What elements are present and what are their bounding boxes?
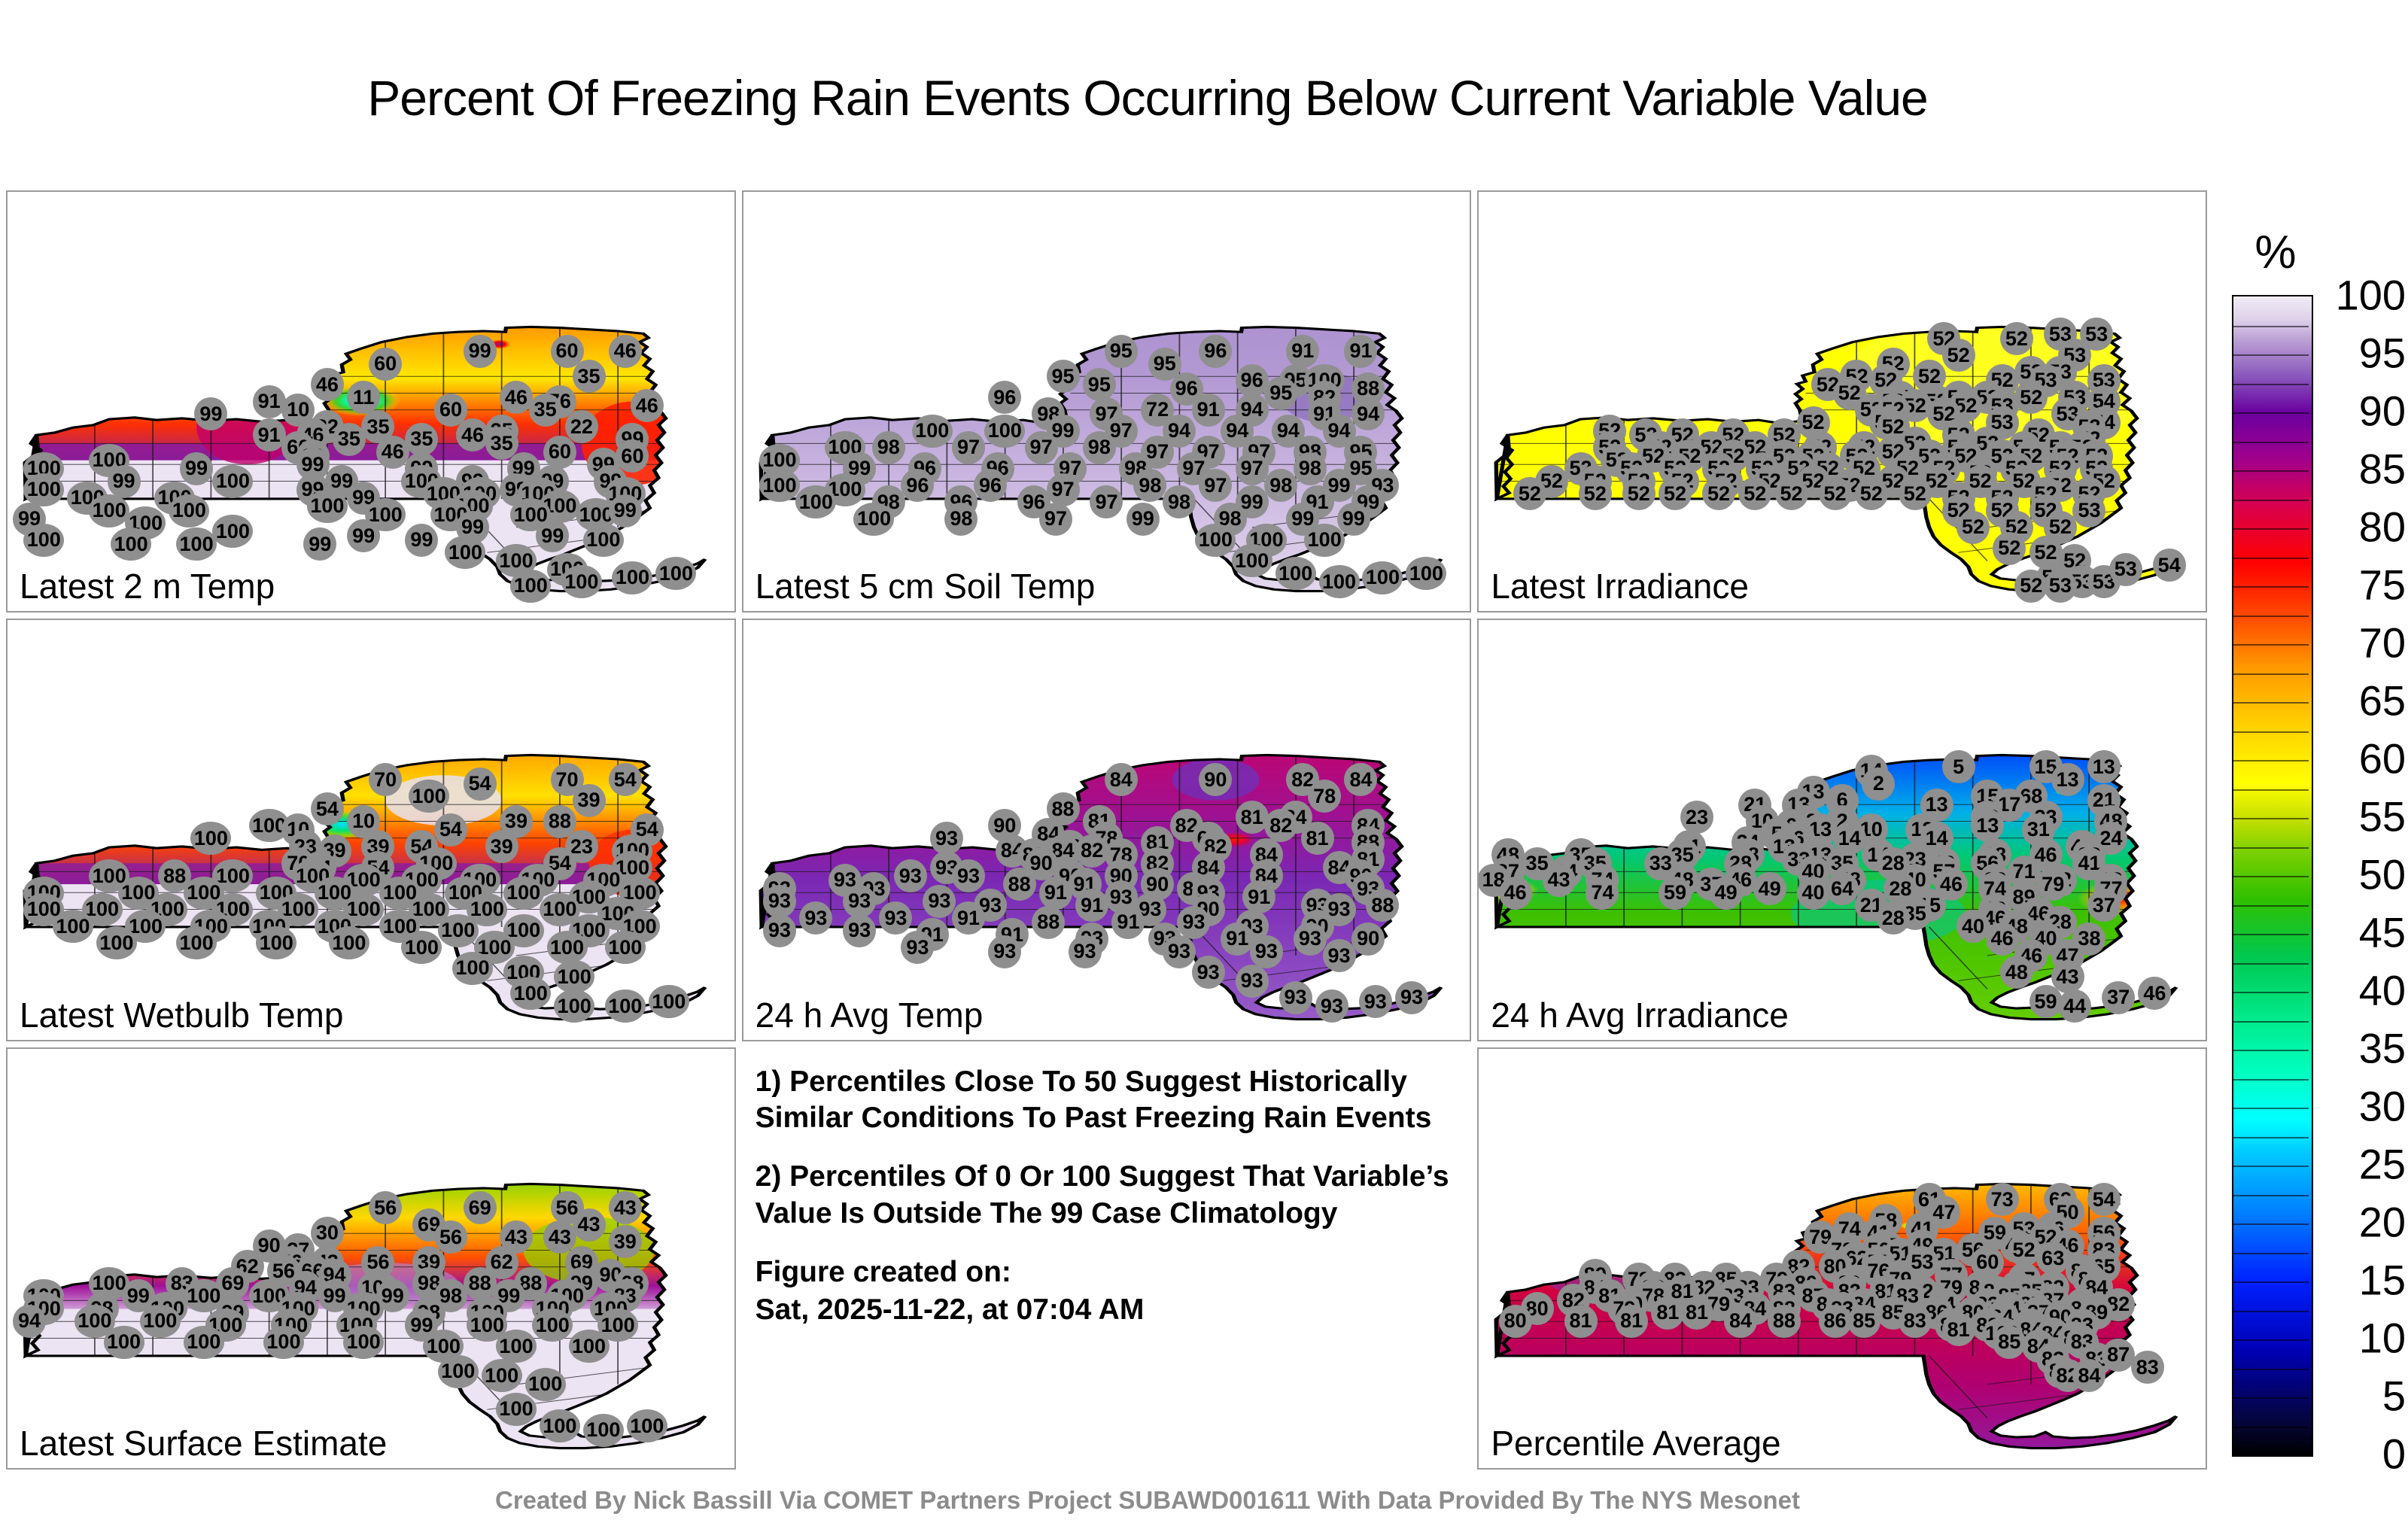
- panel-latest-2m-temp[interactable]: 6099604635469199101146763546602246359135…: [6, 190, 736, 612]
- station-marker: 100: [605, 989, 646, 1023]
- notes-block: 1) Percentiles Close To 50 Suggest Histo…: [742, 1047, 1472, 1336]
- colorbar-tick: [2233, 963, 2309, 965]
- station-marker: 100: [343, 1326, 384, 1359]
- station-marker: 100: [23, 473, 64, 506]
- station-marker: 97: [952, 431, 985, 464]
- station-plot-latest-2m-temp: 6099604635469199101146763546602246359135…: [8, 192, 734, 611]
- station-marker: 99: [609, 494, 642, 527]
- colorbar-tick: [2233, 673, 2309, 675]
- station-marker: 73: [1986, 1183, 2019, 1216]
- colorbar-tick: [2233, 905, 2309, 907]
- panel-notes: 1) Percentiles Close To 50 Suggest Histo…: [742, 1047, 1472, 1470]
- colorbar-units-label: %: [2230, 226, 2321, 279]
- station-marker: 97: [1199, 469, 1232, 502]
- colorbar-tick-label: 45: [2359, 908, 2406, 957]
- station-marker: 100: [452, 952, 493, 985]
- colorbar-tick-label: 95: [2359, 329, 2406, 378]
- station-marker: 37: [2102, 981, 2135, 1014]
- station-marker: 93: [923, 885, 956, 918]
- station-marker: 100: [554, 960, 594, 993]
- station-marker: 91: [1111, 906, 1145, 939]
- colorbar: % 10095908580757065605550454035302520151…: [2221, 226, 2408, 1482]
- station-marker: 100: [540, 1409, 580, 1442]
- station-marker: 100: [1304, 524, 1345, 557]
- station-marker: 85: [1847, 1305, 1880, 1338]
- station-marker: 81: [1301, 822, 1334, 855]
- panel-label-latest-surface-estimate: Latest Surface Estimate: [20, 1423, 387, 1464]
- station-marker: 100: [169, 494, 209, 527]
- station-marker: 46: [456, 418, 489, 451]
- station-marker: 91: [253, 385, 286, 418]
- station-marker: 100: [569, 1330, 610, 1363]
- station-marker: 100: [263, 1326, 304, 1359]
- station-marker: 93: [1294, 923, 1327, 956]
- station-marker: 88: [1768, 1305, 1801, 1338]
- station-marker: 100: [583, 1414, 624, 1447]
- panel-label-latest-wetbulb-temp: Latest Wetbulb Temp: [20, 995, 343, 1035]
- panel-latest-wetbulb-temp[interactable]: 7054705410039541001001010398854542339395…: [6, 619, 736, 1041]
- station-marker: 100: [1232, 544, 1272, 577]
- colorbar-tick: [2233, 1281, 2309, 1283]
- station-marker: 100: [401, 931, 442, 964]
- panel-label-latest-5cm-soil-temp: Latest 5 cm Soil Temp: [756, 566, 1096, 606]
- footer-credit: Created By Nick Bassill Via COMET Partne…: [0, 1486, 2295, 1515]
- station-marker: 93: [843, 885, 876, 918]
- colorbar-tick: [2233, 702, 2309, 704]
- station-marker: 35: [405, 423, 438, 456]
- colorbar-tick-label: 65: [2359, 676, 2406, 725]
- station-marker: 81: [1615, 1305, 1648, 1338]
- station-marker: 74: [1586, 877, 1619, 910]
- station-marker: 100: [605, 931, 646, 964]
- colorbar-tick-label: 25: [2359, 1140, 2406, 1189]
- colorbar-gradient[interactable]: [2232, 295, 2313, 1457]
- map-latest-irradiance: 5252535352535252525353525353525252535252…: [1479, 192, 2206, 611]
- station-marker: 70: [369, 763, 402, 796]
- colorbar-tick: [2233, 760, 2309, 761]
- station-marker: 91: [1039, 877, 1072, 910]
- station-marker: 54: [2153, 549, 2186, 582]
- station-marker: 98: [872, 431, 905, 464]
- page-title: Percent Of Freezing Rain Events Occurrin…: [0, 69, 2295, 126]
- station-marker: 100: [445, 536, 485, 569]
- panel-label-24h-avg-irradiance: 24 h Avg Irradiance: [1491, 995, 1789, 1035]
- station-plot-latest-5cm-soil-temp: 9596919195959696951009596889582989772919…: [743, 192, 1470, 611]
- station-plot-latest-irradiance: 5252535352535252525353525353525252535252…: [1479, 192, 2206, 611]
- station-marker: 100: [547, 931, 588, 964]
- station-marker: 100: [532, 1309, 573, 1342]
- colorbar-tick: [2233, 558, 2309, 559]
- colorbar-tick-label: 70: [2359, 619, 2406, 667]
- colorbar-tick: [2233, 354, 2309, 356]
- panel-24h-avg-irradiance[interactable]: 1451513213132123136156817132110126212132…: [1477, 619, 2207, 1041]
- station-marker: 91: [1221, 923, 1254, 956]
- station-marker: 96: [1236, 364, 1269, 397]
- station-marker: 11: [347, 381, 380, 414]
- station-marker: 43: [1543, 864, 1576, 897]
- station-marker: 93: [879, 901, 912, 935]
- colorbar-tick-label: 90: [2359, 387, 2406, 436]
- station-marker: 54: [2087, 1183, 2121, 1216]
- station-marker: 83: [1899, 1305, 1932, 1338]
- station-marker: 13: [1971, 809, 2004, 842]
- map-latest-5cm-soil-temp: 9596919195959696951009596889582989772919…: [743, 192, 1470, 611]
- station-marker: 52: [2014, 381, 2048, 414]
- station-marker: 100: [482, 1359, 522, 1392]
- station-marker: 99: [405, 524, 438, 557]
- panel-24h-avg-temp[interactable]: 8490828478889081818482828493849084788165…: [742, 619, 1472, 1041]
- station-marker: 100: [104, 1326, 144, 1359]
- station-marker: 46: [609, 335, 642, 368]
- station-marker: 80: [1499, 1305, 1532, 1338]
- colorbar-tick: [2233, 1050, 2309, 1051]
- panel-latest-surface-estimate[interactable]: 5669564369433090275643433962564356396269…: [6, 1047, 736, 1470]
- panel-label-latest-irradiance: Latest Irradiance: [1491, 566, 1749, 606]
- station-marker: 69: [464, 1191, 497, 1224]
- station-marker: 97: [1047, 473, 1080, 506]
- station-marker: 94: [13, 1305, 46, 1338]
- station-marker: 96: [1199, 335, 1232, 368]
- station-marker: 46: [2138, 977, 2171, 1010]
- station-marker: 52: [1659, 477, 1692, 510]
- colorbar-tick: [2233, 586, 2309, 588]
- station-marker: 100: [1319, 565, 1360, 598]
- colorbar-tick: [2233, 1166, 2309, 1167]
- station-marker: 53: [2044, 570, 2077, 603]
- station-marker: 35: [529, 394, 562, 427]
- map-percentile-average: 6173625447505841747941537652565947494746…: [1479, 1049, 2206, 1468]
- colorbar-tick: [2233, 1223, 2309, 1225]
- station-marker: 88: [1003, 868, 1036, 901]
- station-marker: 93: [843, 914, 876, 947]
- station-marker: 100: [1406, 557, 1446, 590]
- colorbar-tick: [2233, 442, 2309, 443]
- station-marker: 99: [194, 397, 227, 430]
- station-marker: 93: [1177, 906, 1210, 939]
- station-marker: 23: [1680, 801, 1713, 834]
- station-marker: 100: [307, 490, 348, 523]
- colorbar-tick: [2233, 1021, 2309, 1023]
- station-marker: 54: [311, 792, 344, 825]
- station-marker: 46: [376, 436, 409, 469]
- station-marker: 52: [1956, 511, 1990, 544]
- station-marker: 98: [1294, 452, 1327, 485]
- station-marker: 91: [253, 418, 286, 451]
- station-marker: 88: [464, 1267, 497, 1300]
- map-latest-2m-temp: 6099604635469199101146763546602246359135…: [8, 192, 734, 611]
- station-marker: 52: [1993, 532, 2026, 565]
- station-marker: 82: [1264, 809, 1297, 842]
- station-marker: 100: [23, 524, 64, 557]
- station-marker: 81: [1942, 1313, 1975, 1346]
- station-marker: 95: [1264, 377, 1297, 410]
- colorbar-tick: [2233, 616, 2309, 617]
- colorbar-tick-label: 60: [2359, 734, 2406, 783]
- station-marker: 52: [1819, 477, 1852, 510]
- colorbar-tick-labels: 1009590858075706560555045403530252015105…: [2319, 295, 2406, 1454]
- colorbar-tick-label: 85: [2359, 445, 2406, 494]
- panel-grid: 6099604635469199101146763546602246359135…: [6, 190, 2207, 1470]
- station-marker: 100: [96, 926, 137, 959]
- station-marker: 44: [2058, 989, 2091, 1023]
- map-latest-wetbulb-temp: 7054705410039541001001010398854542339395…: [8, 620, 734, 1039]
- panel-latest-irradiance[interactable]: 5252535352535252525353525353525252535252…: [1477, 190, 2207, 612]
- station-marker: 95: [1047, 360, 1080, 393]
- station-marker: 43: [609, 1191, 642, 1224]
- colorbar-tick-label: 100: [2336, 271, 2406, 320]
- station-marker: 99: [180, 452, 213, 485]
- colorbar-tick-label: 20: [2359, 1198, 2406, 1247]
- created-timestamp: Sat, 2025-11-22, at 07:04 AM: [756, 1292, 1464, 1328]
- colorbar-tick: [2233, 847, 2309, 849]
- station-marker: 52: [1579, 477, 1612, 510]
- colorbar-tick: [2233, 500, 2309, 501]
- station-marker: 100: [503, 877, 544, 910]
- station-marker: 54: [609, 763, 642, 796]
- station-marker: 13: [2051, 763, 2084, 796]
- station-marker: 40: [1797, 877, 1830, 910]
- station-marker: 100: [583, 524, 624, 557]
- colorbar-tick: [2233, 1108, 2309, 1109]
- station-marker: 100: [627, 1409, 667, 1442]
- colorbar-tick: [2233, 326, 2309, 327]
- station-marker: 84: [1724, 1305, 1757, 1338]
- station-marker: 43: [573, 1208, 606, 1242]
- station-marker: 88: [1366, 889, 1399, 922]
- colorbar-tick: [2233, 1137, 2309, 1138]
- station-marker: 48: [2000, 956, 2033, 989]
- station-marker: 100: [1362, 561, 1403, 594]
- station-marker: 91: [1075, 889, 1108, 922]
- map-latest-surface-estimate: 5669564369433090275643433962564356396269…: [8, 1049, 734, 1468]
- station-plot-latest-wetbulb-temp: 7054705410039541001001010398854542339395…: [8, 620, 734, 1039]
- station-marker: 100: [409, 780, 449, 813]
- station-marker: 52: [2008, 1233, 2041, 1266]
- station-marker: 85: [1993, 1326, 2026, 1359]
- station-marker: 46: [1986, 923, 2019, 956]
- note-2: 2) Percentiles Of 0 Or 100 Suggest That …: [756, 1159, 1464, 1232]
- colorbar-tick-label: 75: [2359, 561, 2406, 609]
- station-marker: 99: [536, 519, 569, 552]
- station-marker: 99: [1126, 503, 1160, 536]
- station-marker: 93: [988, 935, 1021, 968]
- station-marker: 81: [1564, 1305, 1598, 1338]
- station-marker: 46: [500, 381, 533, 414]
- station-marker: 93: [1069, 935, 1102, 968]
- station-marker: 100: [176, 926, 217, 959]
- station-marker: 93: [1192, 956, 1225, 989]
- station-marker: 93: [1315, 989, 1348, 1023]
- station-marker: 84: [1344, 763, 1377, 796]
- station-marker: 100: [212, 515, 253, 548]
- station-plot-24h-avg-irradiance: 1451513213132123136156817132110126212132…: [1479, 620, 2206, 1039]
- station-marker: 99: [1337, 503, 1370, 536]
- station-marker: 100: [655, 557, 696, 590]
- station-marker: 93: [799, 901, 832, 935]
- colorbar-tick-label: 5: [2382, 1372, 2406, 1421]
- station-marker: 100: [111, 527, 151, 561]
- station-marker: 100: [1195, 524, 1236, 557]
- station-marker: 94: [1351, 397, 1385, 430]
- station-marker: 97: [1236, 452, 1269, 485]
- station-marker: 100: [212, 465, 253, 498]
- station-marker: 60: [369, 348, 402, 381]
- colorbar-tick-label: 55: [2359, 792, 2406, 841]
- station-marker: 93: [1279, 981, 1312, 1014]
- station-marker: 13: [2087, 750, 2121, 783]
- station-marker: 28: [1877, 901, 1910, 935]
- station-marker: 52: [2014, 570, 2048, 603]
- station-marker: 84: [1105, 763, 1138, 796]
- colorbar-tick: [2233, 818, 2309, 819]
- station-marker: 100: [912, 415, 953, 448]
- station-marker: 5: [1942, 750, 1975, 783]
- colorbar-tick-label: 0: [2382, 1430, 2406, 1479]
- station-marker: 52: [2000, 322, 2033, 355]
- station-marker: 100: [256, 926, 296, 959]
- station-marker: 52: [1855, 477, 1888, 510]
- colorbar-tick: [2233, 1311, 2309, 1312]
- colorbar-tick: [2233, 470, 2309, 472]
- station-marker: 100: [1275, 557, 1316, 590]
- colorbar-tick-label: 40: [2359, 966, 2406, 1015]
- panel-latest-5cm-soil-temp[interactable]: 9596919195959696951009596889582989772919…: [742, 190, 1472, 612]
- station-marker: 53: [2072, 494, 2105, 527]
- station-marker: 98: [944, 503, 977, 536]
- station-marker: 52: [1513, 477, 1546, 510]
- station-marker: 93: [930, 822, 963, 855]
- station-marker: 100: [89, 494, 129, 527]
- station-marker: 98: [1083, 431, 1116, 464]
- colorbar-tick: [2233, 1339, 2309, 1341]
- station-marker: 88: [1032, 906, 1065, 939]
- colorbar-tick-label: 35: [2359, 1024, 2406, 1073]
- station-marker: 52: [1899, 477, 1932, 510]
- station-marker: 54: [434, 813, 467, 847]
- station-marker: 100: [190, 822, 231, 855]
- station-marker: 83: [2131, 1351, 2164, 1384]
- panel-label-latest-2m-temp: Latest 2 m Temp: [20, 566, 275, 606]
- station-marker: 52: [1738, 477, 1771, 510]
- colorbar-tick: [2233, 1079, 2309, 1081]
- colorbar-tick-label: 50: [2359, 850, 2406, 899]
- station-marker: 100: [184, 1326, 224, 1359]
- station-marker: 60: [543, 436, 576, 469]
- station-marker: 46: [1499, 877, 1532, 910]
- station-marker: 91: [1344, 335, 1377, 368]
- station-marker: 93: [1236, 965, 1269, 998]
- station-marker: 78: [1308, 780, 1341, 813]
- station-marker: 100: [438, 914, 479, 947]
- station-marker: 100: [510, 570, 551, 603]
- station-marker: 100: [984, 415, 1025, 448]
- panel-percentile-average[interactable]: 6173625447505841747941537652565947494746…: [1477, 1047, 2207, 1470]
- station-marker: 39: [573, 784, 606, 817]
- station-marker: 59: [1659, 877, 1692, 910]
- station-marker: 100: [496, 1330, 537, 1363]
- station-marker: 99: [464, 335, 497, 368]
- station-marker: 93: [1163, 935, 1196, 968]
- colorbar-tick-label: 80: [2359, 503, 2406, 552]
- station-marker: 63: [2036, 1242, 2069, 1275]
- station-marker: 99: [108, 465, 141, 498]
- station-marker: 100: [438, 1355, 479, 1388]
- station-marker: 52: [1775, 477, 1808, 510]
- station-plot-percentile-average: 6173625447505841747941537652565947494746…: [1479, 1049, 2206, 1468]
- station-marker: 100: [176, 527, 217, 561]
- panel-label-24h-avg-temp: 24 h Avg Temp: [756, 995, 984, 1035]
- colorbar-tick: [2233, 384, 2309, 385]
- station-marker: 98: [1133, 469, 1166, 502]
- station-marker: 91: [952, 901, 985, 935]
- station-marker: 46: [311, 368, 344, 401]
- colorbar-tick: [2233, 1253, 2309, 1254]
- station-marker: 54: [464, 767, 497, 801]
- station-marker: 99: [303, 527, 336, 561]
- station-marker: 2: [1862, 767, 1895, 801]
- colorbar-tick: [2233, 731, 2309, 733]
- colorbar-tick: [2233, 1195, 2309, 1196]
- station-marker: 56: [369, 1191, 402, 1224]
- created-heading: Figure created on:: [756, 1254, 1464, 1290]
- station-marker: 90: [1199, 763, 1232, 796]
- station-marker: 100: [140, 1305, 181, 1338]
- station-plot-24h-avg-temp: 8490828478889081818482828493849084788165…: [743, 620, 1470, 1039]
- station-marker: 100: [329, 926, 369, 959]
- station-marker: 46: [631, 389, 664, 422]
- panel-label-percentile-average: Percentile Average: [1491, 1423, 1780, 1464]
- station-marker: 91: [1286, 335, 1319, 368]
- station-marker: 52: [1942, 339, 1975, 372]
- station-marker: 100: [53, 910, 93, 943]
- station-marker: 96: [988, 381, 1021, 414]
- station-marker: 93: [1395, 981, 1428, 1014]
- station-marker: 59: [2029, 985, 2063, 1018]
- colorbar-tick: [2233, 1397, 2309, 1399]
- station-marker: 100: [853, 503, 894, 536]
- colorbar-tick: [2233, 876, 2309, 877]
- station-marker: 100: [795, 485, 836, 518]
- station-marker: 52: [1622, 477, 1655, 510]
- station-marker: 64: [1826, 872, 1859, 905]
- station-marker: 81: [1236, 801, 1269, 834]
- colorbar-tick: [2233, 1369, 2309, 1370]
- map-24h-avg-irradiance: 1451513213132123136156817132110126212132…: [1479, 620, 2206, 1039]
- station-marker: 53: [2109, 553, 2142, 586]
- station-marker: 100: [496, 1393, 537, 1426]
- station-marker: 86: [1819, 1305, 1852, 1338]
- station-marker: 91: [1192, 394, 1225, 427]
- station-marker: 100: [554, 989, 594, 1023]
- station-marker: 49: [1710, 877, 1743, 910]
- station-marker: 100: [510, 977, 551, 1010]
- station-marker: 100: [561, 565, 602, 598]
- station-marker: 100: [649, 985, 689, 1018]
- station-marker: 93: [1359, 985, 1392, 1018]
- station-marker: 35: [333, 423, 366, 456]
- colorbar-tick: [2233, 992, 2309, 993]
- station-marker: 100: [525, 1368, 566, 1401]
- map-24h-avg-temp: 8490828478889081818482828493849084788165…: [743, 620, 1470, 1039]
- station-marker: 95: [1083, 368, 1116, 401]
- colorbar-tick: [2233, 644, 2309, 646]
- station-marker: 49: [1753, 872, 1786, 905]
- station-marker: 97: [1039, 503, 1072, 536]
- colorbar-tick: [2233, 934, 2309, 935]
- station-marker: 93: [1250, 935, 1283, 968]
- station-marker: 40: [1956, 910, 1990, 943]
- colorbar-tick-label: 15: [2359, 1256, 2406, 1305]
